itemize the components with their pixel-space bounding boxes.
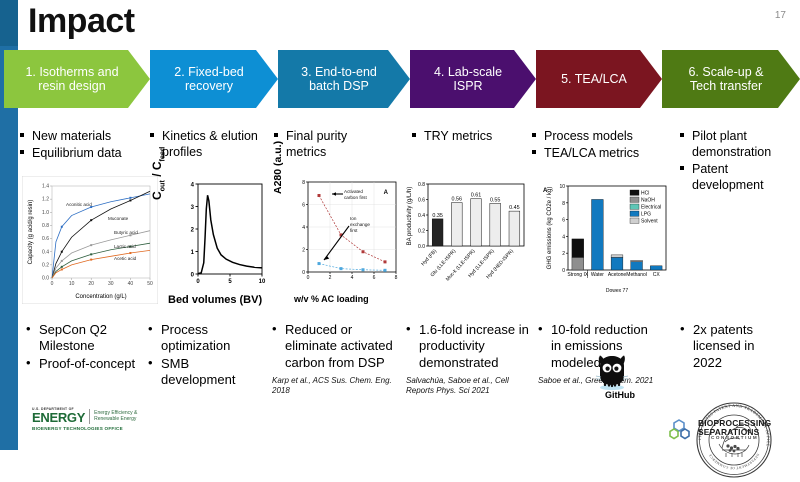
breakthrough-x-axis-label: Bed volumes (BV)	[168, 294, 262, 306]
list-item: Process optimization	[148, 322, 260, 355]
pipeline-step-6[interactable]: 6. Scale-up &Tech transfer	[662, 50, 800, 108]
svg-text:6: 6	[373, 275, 376, 281]
svg-text:8: 8	[302, 180, 305, 186]
slide-accent-bar-top	[0, 0, 18, 46]
svg-text:0: 0	[191, 273, 195, 279]
svg-text:0.56: 0.56	[452, 197, 463, 203]
list-item: SMB development	[148, 356, 260, 389]
svg-text:0.0: 0.0	[42, 276, 49, 282]
svg-text:Ion: Ion	[350, 216, 357, 221]
svg-text:1.4: 1.4	[42, 184, 49, 190]
svg-text:Muconate: Muconate	[108, 216, 129, 221]
bsc-logo: BIOPROCESSING SEPARATIONS CONSORTIUM	[668, 418, 771, 442]
svg-text:Water: Water	[591, 272, 604, 278]
ac-loading-y-axis-label: A280 (a.u.)	[272, 141, 284, 194]
breakthrough-y-axis-label: Cout / Cfeed	[150, 147, 166, 200]
conclusions-col-4: 1.6-fold increase in productivity demons…	[406, 322, 530, 396]
svg-text:5: 5	[228, 279, 232, 285]
svg-text:4: 4	[302, 225, 305, 231]
svg-text:20: 20	[88, 281, 94, 287]
svg-text:30: 30	[108, 281, 114, 287]
list-item: 2x patents licensed in 2022	[680, 322, 784, 371]
svg-text:1: 1	[191, 250, 195, 256]
svg-text:10: 10	[559, 184, 565, 190]
svg-text:0.45: 0.45	[509, 205, 520, 211]
citation: Salvachúa, Saboe et al., Cell Reports Ph…	[406, 376, 530, 396]
svg-text:0: 0	[196, 279, 200, 285]
conclusions-row: SepCon Q2 Milestone Proof-of-concept Pro…	[0, 322, 800, 422]
svg-text:0.35: 0.35	[432, 213, 443, 219]
svg-text:0.8: 0.8	[42, 223, 49, 229]
svg-text:4: 4	[191, 183, 195, 189]
svg-text:NaOH: NaOH	[641, 197, 655, 203]
svg-text:first: first	[350, 228, 358, 233]
list-item: Kinetics & elution profiles	[150, 128, 268, 160]
svg-text:2: 2	[191, 228, 195, 234]
svg-text:0: 0	[302, 270, 305, 276]
svg-text:8: 8	[395, 275, 398, 281]
svg-text:6: 6	[302, 203, 305, 209]
list-item: Final purity metrics	[274, 128, 384, 160]
svg-text:0.2: 0.2	[42, 262, 49, 268]
svg-text:1.2: 1.2	[42, 197, 49, 203]
github-logo[interactable]: GitHub	[592, 352, 648, 400]
figure-ba-productivity: 0.00.20.40.60.8 0.350.560.610.550.45 Hyd…	[404, 176, 536, 310]
svg-text:Strong IX: Strong IX	[567, 272, 589, 278]
svg-text:2: 2	[329, 275, 332, 281]
svg-text:0.61: 0.61	[471, 193, 482, 199]
list-item: Reduced or eliminate activated carbon fr…	[272, 322, 394, 371]
svg-text:carbon first: carbon first	[344, 195, 367, 200]
deliverables-col-2: Kinetics & elution profiles	[150, 128, 268, 161]
figure-ghg-emissions: 0246810 Strong IXWaterAcetoneMethanolCX …	[538, 176, 674, 310]
svg-text:Hyd (FB): Hyd (FB)	[420, 248, 438, 267]
pipeline-step-5-line1: 5. TEA/LCA	[561, 72, 627, 86]
list-item: Pilot plant demonstration	[680, 128, 792, 160]
bsc-line3: CONSORTIUM	[698, 436, 771, 441]
pipeline-step-3-line1: 3. End-to-end	[301, 65, 377, 79]
svg-text:Acetic acid: Acetic acid	[114, 256, 137, 261]
pipeline-step-6-line1: 6. Scale-up &	[688, 65, 763, 79]
page-title: Impact	[28, 2, 135, 41]
svg-text:6: 6	[562, 218, 565, 224]
deliverables-col-4: TRY metrics	[412, 128, 524, 145]
svg-text:4: 4	[562, 234, 565, 240]
svg-text:4: 4	[351, 275, 354, 281]
svg-text:0: 0	[51, 281, 54, 287]
svg-text:10: 10	[69, 281, 75, 287]
doe-wordmark: ENERGY	[32, 411, 85, 424]
svg-text:exchange: exchange	[350, 222, 370, 227]
conclusions-col-6: 2x patents licensed in 2022	[680, 322, 784, 372]
svg-text:Electrical: Electrical	[641, 204, 661, 210]
svg-text:8: 8	[562, 201, 565, 207]
svg-text:Aconitic acid: Aconitic acid	[66, 202, 92, 207]
svg-text:0.8: 0.8	[418, 182, 425, 188]
list-item: SepCon Q2 Milestone	[26, 322, 144, 355]
pipeline-step-3[interactable]: 3. End-to-endbatch DSP	[278, 50, 410, 108]
svg-text:2: 2	[302, 248, 305, 254]
list-item: TRY metrics	[412, 128, 524, 144]
deliverables-col-3: Final purity metrics	[274, 128, 384, 161]
svg-text:Concentration (g/L): Concentration (g/L)	[75, 294, 126, 300]
pipeline-step-6-line2: Tech transfer	[688, 79, 763, 93]
list-item: Proof-of-concept	[26, 356, 144, 372]
svg-text:2: 2	[562, 251, 565, 257]
svg-text:0.6: 0.6	[42, 236, 49, 242]
citation: Karp et al., ACS Sus. Chem. Eng. 2018	[272, 376, 394, 396]
list-item: TEA/LCA metrics	[532, 145, 672, 161]
conclusions-col-1: SepCon Q2 Milestone Proof-of-concept	[26, 322, 144, 373]
doe-tagline-line2: Renewable Energy	[94, 416, 137, 422]
figure-breakthrough: Cout / Cfeed Bed volumes (BV) 01234 0510	[152, 176, 272, 312]
list-item: New materials	[20, 128, 148, 144]
svg-text:CX: CX	[653, 272, 661, 278]
svg-text:LPG: LPG	[641, 211, 651, 217]
svg-text:0.4: 0.4	[42, 249, 49, 255]
github-label: GitHub	[592, 390, 648, 400]
figure-ac-loading: A280 (a.u.) w/v % AC loading 02468 02468…	[272, 176, 404, 312]
svg-text:0.0: 0.0	[418, 244, 425, 250]
figure-isotherms: 0.00.20.40.60.81.01.21.4 01020304050 Aco…	[22, 176, 158, 304]
svg-text:Lactic acid: Lactic acid	[114, 244, 136, 249]
sub-feed: feed	[157, 147, 166, 162]
ac-loading-x-axis-label: w/v % AC loading	[294, 294, 369, 304]
svg-text:0.4: 0.4	[418, 213, 425, 219]
svg-text:10: 10	[259, 279, 266, 285]
svg-text:Butyric acid: Butyric acid	[114, 230, 138, 235]
pipeline-step-1-line2: resin design	[25, 79, 118, 93]
pipeline-step-2[interactable]: 2. Fixed-bedrecovery	[150, 50, 278, 108]
svg-text:Solvent: Solvent	[641, 218, 658, 224]
sub-out: out	[157, 180, 166, 191]
slide-number: 17	[775, 10, 786, 21]
doe-office-text: BIOENERGY TECHNOLOGIES OFFICE	[32, 426, 182, 431]
svg-text:0.55: 0.55	[490, 197, 501, 203]
svg-text:HCl: HCl	[641, 190, 649, 196]
svg-text:Capacity (g acid/g resin): Capacity (g acid/g resin)	[28, 200, 34, 265]
doe-logo: U.S. DEPARTMENT OF ENERGY Energy Efficie…	[32, 408, 182, 431]
svg-text:0: 0	[562, 268, 565, 274]
conclusions-col-3: Reduced or eliminate activated carbon fr…	[272, 322, 394, 396]
svg-text:Methanol: Methanol	[626, 272, 647, 278]
github-octocat-icon	[592, 352, 632, 392]
svg-text:40: 40	[128, 281, 134, 287]
svg-text:Dowex 77: Dowex 77	[606, 288, 628, 294]
pipeline-step-4-line1: 4. Lab-scale	[434, 65, 502, 79]
figures-row: 0.00.20.40.60.81.01.21.4 01020304050 Aco…	[0, 176, 800, 316]
bsc-hexagon-icon	[668, 418, 694, 442]
list-item: Equilibrium data	[20, 145, 148, 161]
svg-text:3: 3	[191, 205, 195, 211]
svg-text:1.0: 1.0	[42, 210, 49, 216]
pipeline-step-5[interactable]: 5. TEA/LCA	[536, 50, 662, 108]
list-item: Process models	[532, 128, 672, 144]
svg-text:Acetone: Acetone	[608, 272, 627, 278]
pipeline-step-3-line2: batch DSP	[301, 79, 377, 93]
svg-text:BA productivity (g/L/h): BA productivity (g/L/h)	[407, 187, 413, 246]
breakthrough-chart: 01234 0510	[176, 176, 268, 292]
ba-productivity-chart: 0.00.20.40.60.8 0.350.560.610.550.45 Hyd…	[404, 176, 536, 310]
pipeline-step-1[interactable]: 1. Isotherms andresin design	[4, 50, 150, 108]
svg-text:A: A	[384, 190, 389, 196]
svg-text:0.2: 0.2	[418, 229, 425, 235]
doe-divider	[89, 409, 90, 424]
svg-text:GHG emissions (kg CO2e / kg): GHG emissions (kg CO2e / kg)	[547, 187, 553, 270]
pipeline-step-2-line2: recovery	[174, 79, 243, 93]
conclusions-col-2: Process optimization SMB development	[148, 322, 260, 389]
ac-loading-chart: 02468 02468 A Activatedcarbon firstIonex…	[292, 176, 402, 292]
list-item: 1.6-fold increase in productivity demons…	[406, 322, 530, 371]
ghg-emissions-chart: 0246810 Strong IXWaterAcetoneMethanolCX …	[538, 176, 674, 310]
isotherm-chart: 0.00.20.40.60.81.01.21.4 01020304050 Aco…	[22, 176, 158, 304]
pipeline-step-4-line2: ISPR	[434, 79, 502, 93]
pipeline-step-2-line1: 2. Fixed-bed	[174, 65, 243, 79]
svg-text:0.6: 0.6	[418, 198, 425, 204]
pipeline-step-1-line1: 1. Isotherms and	[25, 65, 118, 79]
deliverables-col-1: New materials Equilibrium data	[20, 128, 148, 162]
svg-text:0: 0	[307, 275, 310, 281]
deliverables-col-5: Process models TEA/LCA metrics	[532, 128, 672, 162]
pipeline-arrow-row: 1. Isotherms andresin design 2. Fixed-be…	[4, 50, 800, 112]
svg-text:Activated: Activated	[344, 189, 363, 194]
pipeline-step-4[interactable]: 4. Lab-scaleISPR	[410, 50, 536, 108]
